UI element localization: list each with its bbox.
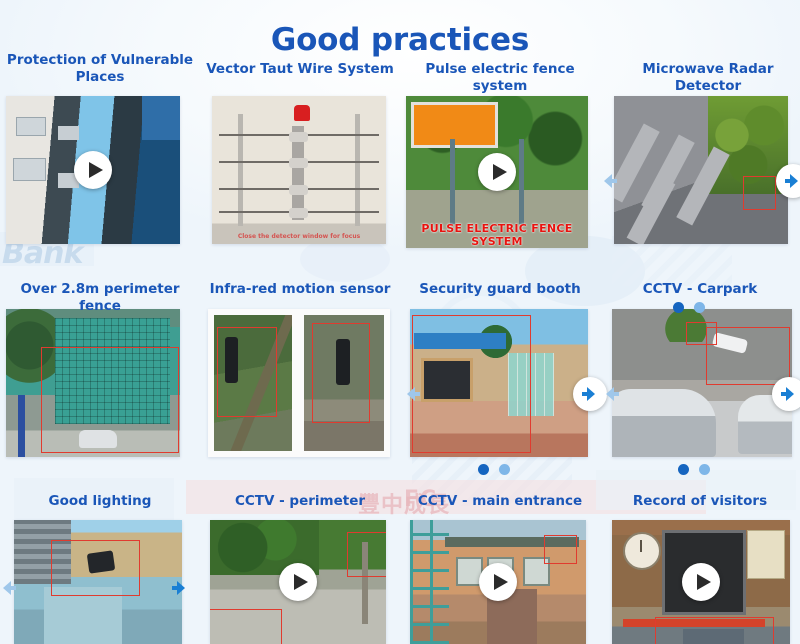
card-caption: Pulse electric fence system	[400, 61, 600, 95]
card-caption: CCTV - perimeter	[200, 493, 400, 510]
card-media[interactable]	[612, 520, 790, 644]
annotation-box	[210, 609, 282, 644]
annotation-box	[312, 323, 370, 423]
dot-active[interactable]	[673, 302, 684, 313]
prev-arrow-icon[interactable]	[594, 377, 628, 411]
card-media[interactable]	[6, 96, 180, 244]
next-arrow-icon[interactable]	[772, 377, 800, 411]
annotation-box	[743, 176, 776, 211]
page-title: Good practices	[0, 22, 800, 58]
card-caption: Microwave Radar Detector	[608, 61, 800, 95]
photo-microwave-radar	[614, 96, 788, 244]
card-caption: CCTV - Carpark	[600, 281, 800, 298]
annotation-box	[655, 617, 774, 644]
photo-overlay-caption: PULSE ELECTRIC FENCE SYSTEM	[406, 222, 588, 248]
annotation-box	[217, 327, 277, 417]
row-3: Good lighting CCTV - perimeter	[0, 487, 800, 644]
card-media[interactable]	[410, 520, 586, 644]
card-caption: Good lighting	[0, 493, 200, 510]
dot-active[interactable]	[478, 464, 489, 475]
annotation-box	[544, 535, 578, 564]
card-media[interactable]	[6, 309, 180, 457]
card-media[interactable]	[612, 309, 792, 457]
dot-inactive[interactable]	[694, 302, 705, 313]
card-caption: Infra-red motion sensor	[200, 281, 400, 298]
pagination-dots[interactable]	[673, 302, 705, 313]
annotation-box	[51, 540, 140, 597]
annotation-box	[347, 532, 386, 576]
card-media[interactable]	[208, 309, 390, 457]
annotation-box	[412, 315, 531, 453]
dot-inactive[interactable]	[699, 464, 710, 475]
dot-active[interactable]	[678, 464, 689, 475]
play-icon[interactable]	[682, 563, 720, 601]
card-media[interactable]	[614, 96, 788, 244]
prev-arrow-icon[interactable]	[395, 377, 429, 411]
card-caption: CCTV - main entrance	[400, 493, 600, 510]
next-arrow-icon[interactable]	[163, 571, 197, 605]
card-caption: Record of visitors	[600, 493, 800, 510]
dot-inactive[interactable]	[499, 464, 510, 475]
photo-overlay-caption: Close the detector window for focus	[212, 233, 386, 240]
play-icon[interactable]	[479, 563, 517, 601]
play-icon[interactable]	[279, 563, 317, 601]
photo-taut-wire	[212, 96, 386, 244]
play-icon[interactable]	[478, 153, 516, 191]
card-caption: Over 2.8m perimeter fence	[0, 281, 200, 315]
pagination-dots[interactable]	[478, 464, 510, 475]
play-icon[interactable]	[74, 151, 112, 189]
card-media[interactable]: Close the detector window for focus	[212, 96, 386, 244]
row-1: Protection of Vulnerable Places Vector T…	[0, 52, 800, 252]
annotation-box	[41, 347, 179, 453]
card-caption: Vector Taut Wire System	[200, 61, 400, 78]
card-media[interactable]: PULSE ELECTRIC FENCE SYSTEM	[406, 96, 588, 248]
prev-arrow-icon[interactable]	[0, 571, 25, 605]
card-media[interactable]	[14, 520, 182, 644]
card-caption: Security guard booth	[400, 281, 600, 298]
next-arrow-icon[interactable]	[776, 164, 800, 198]
pagination-dots[interactable]	[678, 464, 710, 475]
card-media[interactable]	[210, 520, 386, 644]
prev-arrow-icon[interactable]	[592, 164, 626, 198]
card-media[interactable]	[410, 309, 588, 457]
